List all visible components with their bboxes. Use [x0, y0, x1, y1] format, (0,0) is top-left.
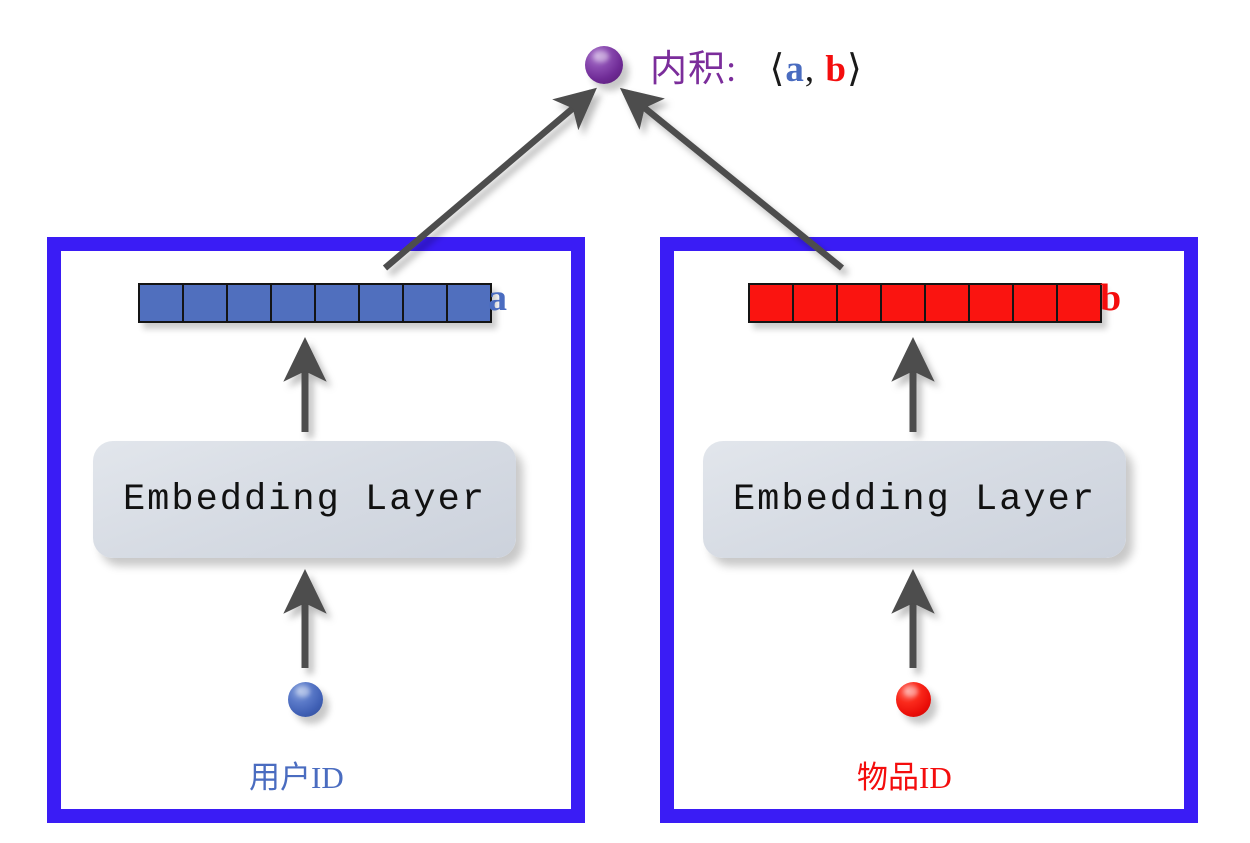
vector-cell	[446, 283, 492, 323]
angle-bracket-open-icon: ⟨	[770, 48, 786, 90]
vector-cell	[968, 283, 1014, 323]
red-sphere-icon	[896, 682, 931, 717]
item-embedding-layer-label: Embedding Layer	[733, 479, 1096, 521]
user-embedding-vector	[138, 283, 492, 323]
blue-sphere-icon	[288, 682, 323, 717]
vector-cell	[182, 283, 228, 323]
vector-cell	[270, 283, 316, 323]
formula-vector-a: a	[785, 49, 805, 90]
dot-product-label: 内积:	[650, 49, 737, 90]
vector-cell	[226, 283, 272, 323]
vector-cell	[358, 283, 404, 323]
diagram-canvas: 内积: ⟨a, b⟩ a b Embedding Layer Embedding…	[0, 0, 1250, 843]
item-id-node	[896, 682, 931, 717]
vector-cell	[1056, 283, 1102, 323]
item-embedding-layer-box: Embedding Layer	[703, 441, 1126, 558]
formula-comma: ,	[805, 49, 815, 90]
vector-cell	[880, 283, 926, 323]
user-id-node	[288, 682, 323, 717]
dot-product-formula: 内积: ⟨a, b⟩	[650, 38, 863, 92]
vector-cell	[836, 283, 882, 323]
vector-cell	[138, 283, 184, 323]
user-vector-label: a	[488, 276, 507, 320]
vector-cell	[314, 283, 360, 323]
item-embedding-vector	[748, 283, 1102, 323]
item-id-label: 物品ID	[857, 752, 952, 797]
dot-product-node	[585, 46, 623, 84]
vector-cell	[792, 283, 838, 323]
vector-cell	[1012, 283, 1058, 323]
item-vector-label: b	[1100, 276, 1121, 320]
vector-cell	[924, 283, 970, 323]
user-id-label: 用户ID	[249, 752, 344, 797]
vector-cell	[402, 283, 448, 323]
user-embedding-layer-label: Embedding Layer	[123, 479, 486, 521]
user-embedding-layer-box: Embedding Layer	[93, 441, 516, 558]
angle-bracket-close-icon: ⟩	[847, 48, 863, 90]
formula-vector-b: b	[825, 49, 847, 90]
purple-sphere-icon	[585, 46, 623, 84]
vector-cell	[748, 283, 794, 323]
